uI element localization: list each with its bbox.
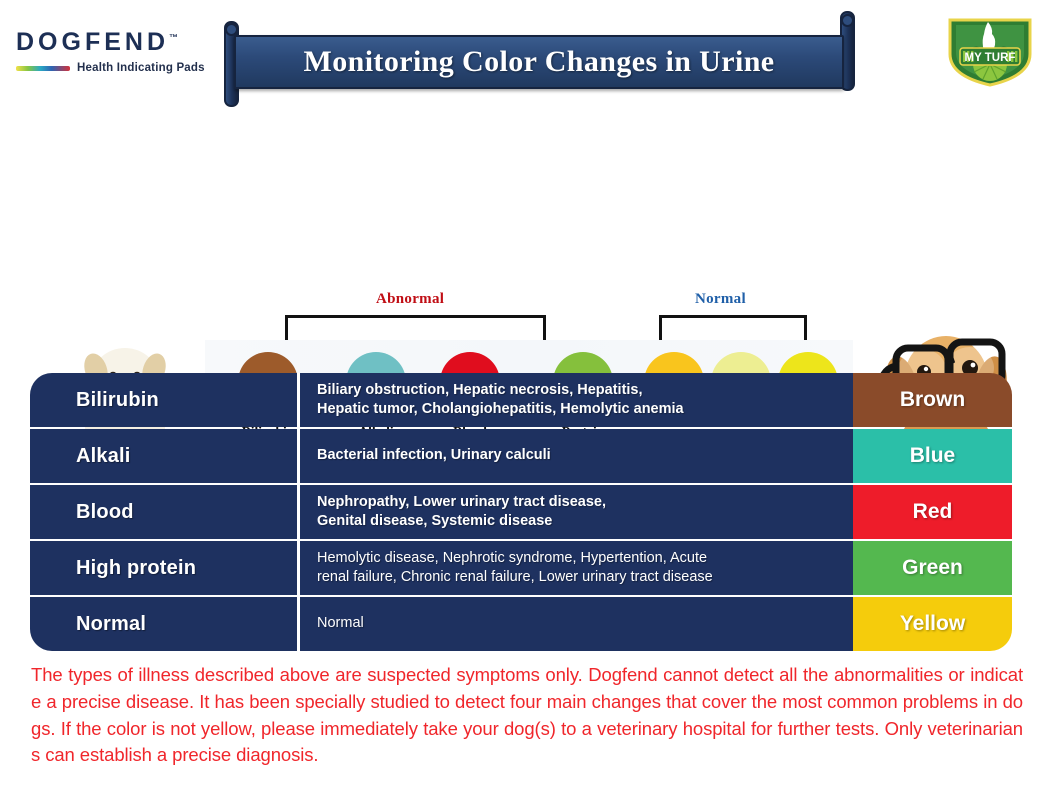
row-description-line: Normal	[317, 614, 364, 633]
group-label-normal: Normal	[695, 291, 746, 308]
banner-body: Monitoring Color Changes in Urine	[234, 35, 844, 89]
row-color-label: Red	[853, 485, 1012, 539]
row-name: Bilirubin	[30, 373, 300, 427]
my-turf-logo-icon: MY TURF	[944, 14, 1036, 88]
row-description-line: renal failure, Chronic renal failure, Lo…	[317, 568, 713, 587]
row-description-line: Genital disease, Systemic disease	[317, 512, 606, 531]
row-description-line: Hemolytic disease, Nephrotic syndrome, H…	[317, 549, 713, 568]
banner-cap-left-icon	[225, 23, 238, 36]
gradient-bar-icon	[16, 66, 70, 71]
table-row: Bilirubin Biliary obstruction, Hepatic n…	[30, 373, 1015, 427]
row-color-label: Brown	[853, 373, 1012, 427]
brand-tagline: Health Indicating Pads	[77, 62, 205, 74]
table-row: Alkali Bacterial infection, Urinary calc…	[30, 429, 1015, 483]
row-name: Blood	[30, 485, 300, 539]
row-description: Nephropathy, Lower urinary tract disease…	[300, 485, 853, 539]
table-row: High protein Hemolytic disease, Nephroti…	[30, 541, 1015, 595]
my-turf-logo-text: MY TURF	[965, 52, 1016, 64]
bracket-abnormal-icon	[285, 315, 546, 341]
row-name: Normal	[30, 597, 300, 651]
row-description-line: Hepatic tumor, Cholangiohepatitis, Hemol…	[317, 400, 684, 419]
table-row: Normal Normal Yellow	[30, 597, 1015, 651]
row-description-line: Nephropathy, Lower urinary tract disease…	[317, 493, 606, 512]
banner-cap-right-icon	[841, 14, 854, 27]
row-name: High protein	[30, 541, 300, 595]
title-banner: Monitoring Color Changes in Urine	[220, 11, 857, 101]
row-description: Bacterial infection, Urinary calculi	[300, 429, 853, 483]
row-description: Normal	[300, 597, 853, 651]
row-color-label: Blue	[853, 429, 1012, 483]
row-description-line: Biliary obstruction, Hepatic necrosis, H…	[317, 381, 684, 400]
row-color-label: Yellow	[853, 597, 1012, 651]
row-description: Hemolytic disease, Nephrotic syndrome, H…	[300, 541, 853, 595]
condition-table: Bilirubin Biliary obstruction, Hepatic n…	[30, 373, 1015, 651]
group-label-abnormal: Abnormal	[376, 291, 444, 308]
bracket-normal-icon	[659, 315, 807, 341]
table-row: Blood Nephropathy, Lower urinary tract d…	[30, 485, 1015, 539]
brand-name-text: DOGFEND	[16, 28, 169, 56]
row-color-label: Green	[853, 541, 1012, 595]
header: DOGFEND™ Health Indicating Pads Monitori…	[0, 0, 1049, 112]
row-name: Alkali	[30, 429, 300, 483]
brand-tagline-row: Health Indicating Pads	[16, 62, 216, 74]
trademark-symbol: ™	[169, 33, 178, 43]
row-description: Biliary obstruction, Hepatic necrosis, H…	[300, 373, 853, 427]
row-description-line: Bacterial infection, Urinary calculi	[317, 446, 551, 465]
brand-name: DOGFEND™	[16, 30, 216, 55]
page-title: Monitoring Color Changes in Urine	[304, 45, 775, 79]
infographic-page: DOGFEND™ Health Indicating Pads Monitori…	[0, 0, 1049, 786]
brand-logo: DOGFEND™ Health Indicating Pads	[16, 30, 216, 74]
color-swatch-strip: Abnormal Normal Bilirubin Alkali Blood P…	[0, 130, 1049, 350]
disclaimer-text: The types of illness described above are…	[31, 662, 1023, 769]
